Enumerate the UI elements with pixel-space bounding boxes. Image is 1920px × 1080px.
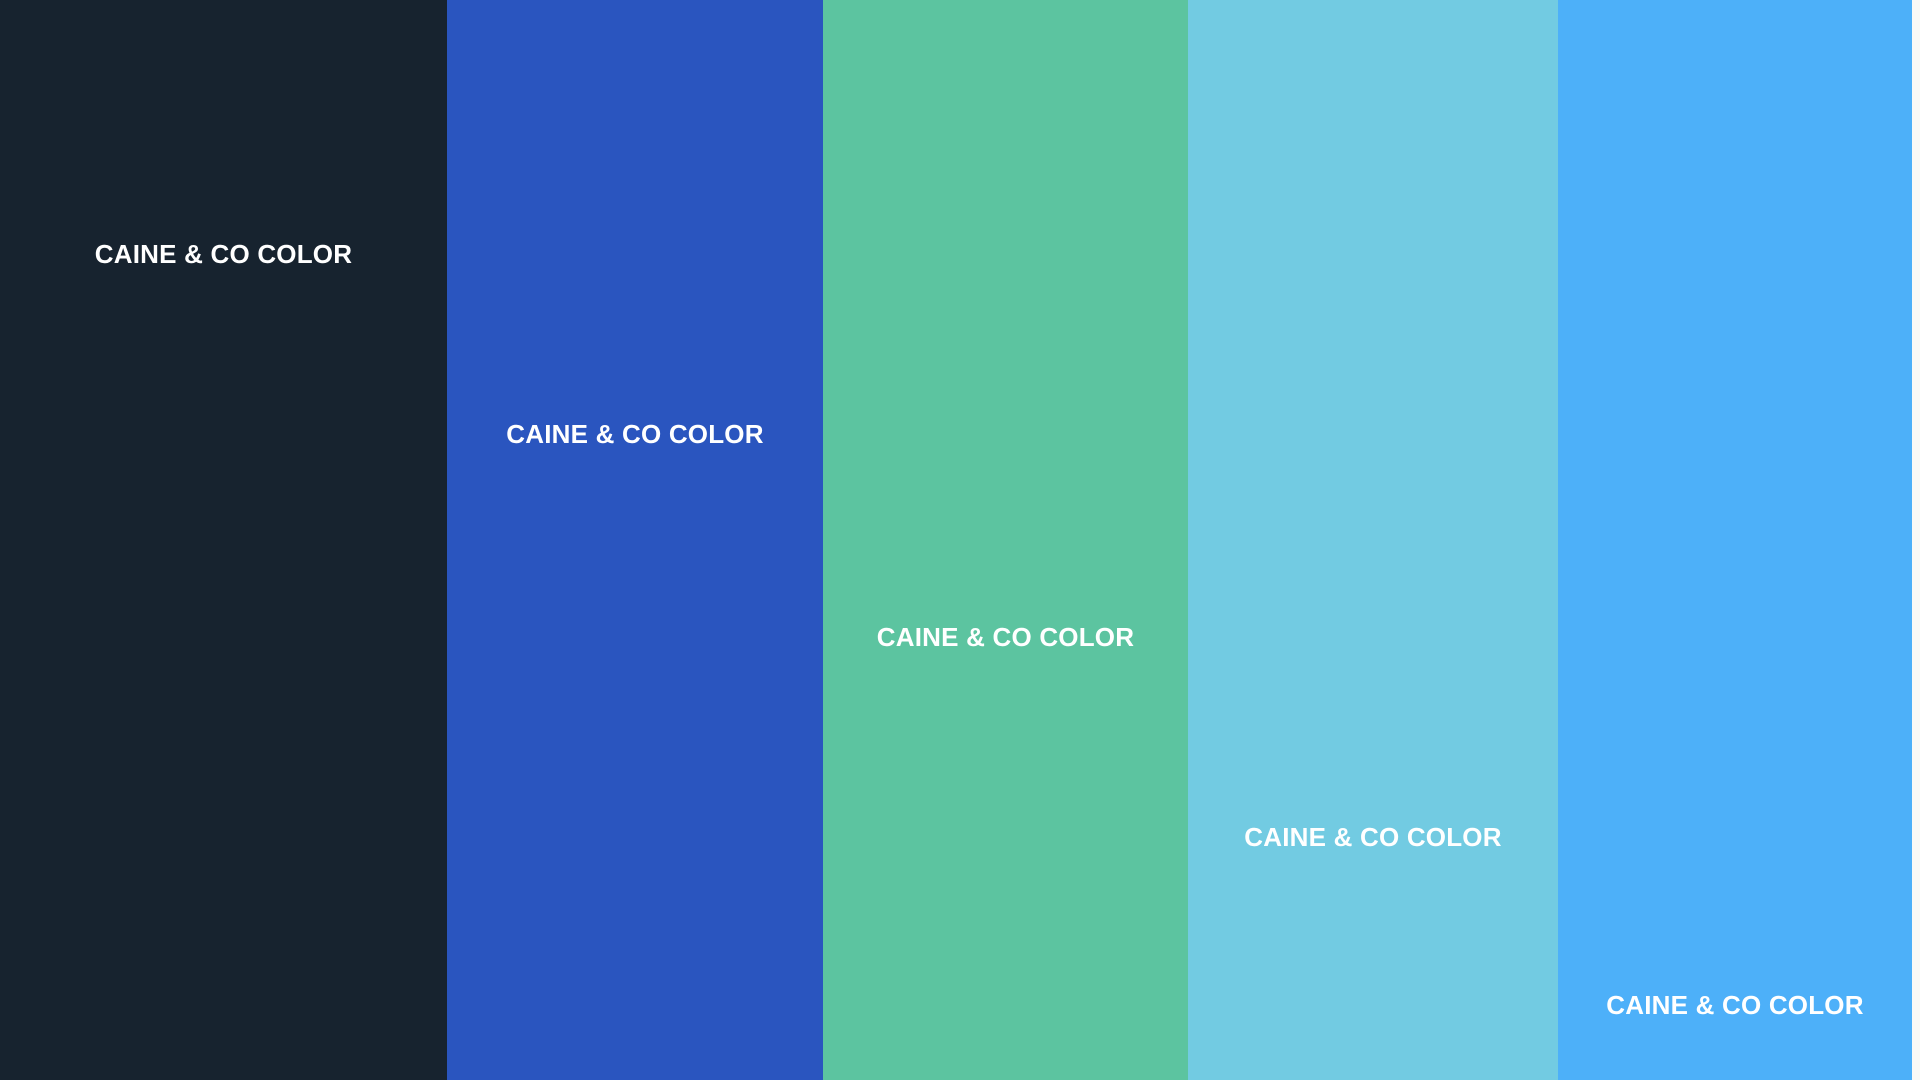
- swatch-5-label: CAINE & CO COLOR: [1558, 992, 1912, 1018]
- color-swatch-5[interactable]: CAINE & CO COLOR: [1558, 0, 1912, 1080]
- color-swatch-4[interactable]: CAINE & CO COLOR: [1188, 0, 1558, 1080]
- color-swatch-2[interactable]: CAINE & CO COLOR: [447, 0, 823, 1080]
- color-swatch-1[interactable]: CAINE & CO COLOR: [0, 0, 447, 1080]
- color-palette-board: CAINE & CO COLOR CAINE & CO COLOR CAINE …: [0, 0, 1920, 1080]
- color-swatch-3[interactable]: CAINE & CO COLOR: [823, 0, 1188, 1080]
- swatch-3-label: CAINE & CO COLOR: [823, 624, 1188, 650]
- swatch-4-label: CAINE & CO COLOR: [1188, 824, 1558, 850]
- swatch-1-label: CAINE & CO COLOR: [0, 241, 447, 267]
- swatch-2-label: CAINE & CO COLOR: [447, 421, 823, 447]
